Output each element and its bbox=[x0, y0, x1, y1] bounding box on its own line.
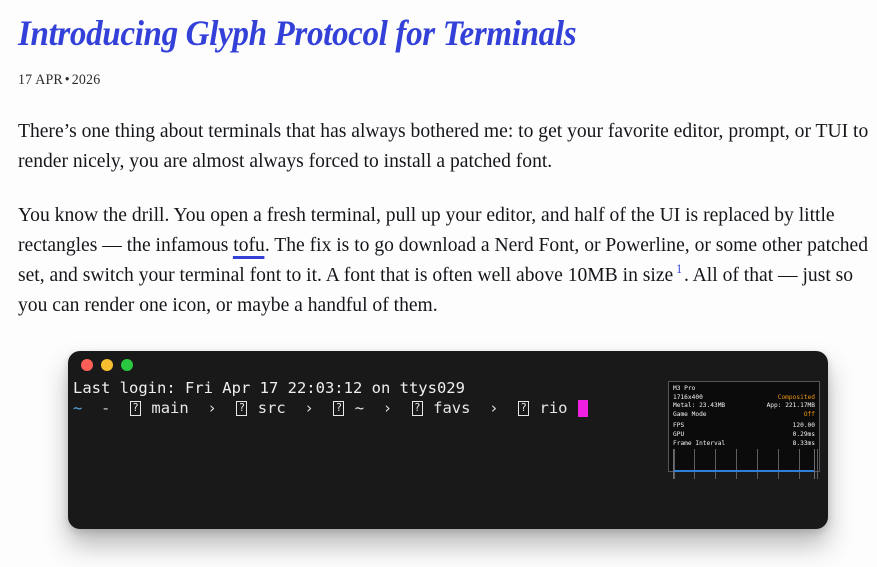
prompt-home: ~ bbox=[73, 399, 82, 417]
hud-graph-gridline bbox=[778, 449, 779, 479]
hud-graph-gridline bbox=[736, 449, 737, 479]
prompt-segment-src: src bbox=[258, 399, 286, 417]
prompt-segment-favs: favs bbox=[433, 399, 470, 417]
metal-performance-hud: M3 Pro 1716x400 Composited Metal: 23.43M… bbox=[668, 381, 820, 472]
hud-graph-gridline bbox=[817, 449, 818, 479]
hud-composited-status: Composited bbox=[778, 394, 815, 403]
hud-row-resolution: 1716x400 Composited bbox=[673, 394, 815, 403]
post-meta: 17 APR•2026 bbox=[18, 72, 800, 89]
terminal-titlebar bbox=[68, 351, 828, 379]
meta-separator: • bbox=[63, 72, 72, 88]
hud-fps-value: 120.00 bbox=[793, 422, 815, 431]
hud-graph-gridline bbox=[674, 449, 675, 479]
hud-frame-graph bbox=[673, 449, 815, 479]
tofu-glyph-icon bbox=[130, 401, 141, 416]
post-date: 17 APR bbox=[18, 72, 63, 88]
hud-metal-memory: Metal: 23.43MB bbox=[673, 402, 725, 411]
hud-gpu-value: 0.29ms bbox=[793, 431, 815, 440]
hud-app-memory: App: 221.17MB bbox=[767, 402, 815, 411]
tofu-link[interactable]: tofu bbox=[233, 234, 265, 259]
hud-row-device: M3 Pro bbox=[673, 385, 815, 394]
prompt-chevron-icon: › bbox=[207, 399, 216, 417]
terminal-cursor bbox=[578, 400, 588, 417]
paragraph-1: There’s one thing about terminals that h… bbox=[18, 116, 877, 176]
hud-game-mode-label: Game Mode bbox=[673, 411, 707, 420]
hud-row-fps: FPS 120.00 bbox=[673, 422, 815, 431]
hud-row-frame-interval: Frame Interval 8.33ms bbox=[673, 440, 815, 449]
footnote-reference-link[interactable]: 1 bbox=[676, 262, 682, 276]
zoom-button-icon[interactable] bbox=[121, 359, 133, 371]
hud-graph-gridline bbox=[757, 449, 758, 479]
prompt-dash: - bbox=[101, 399, 110, 417]
hud-fps-label: FPS bbox=[673, 422, 684, 431]
hud-resolution: 1716x400 bbox=[673, 394, 703, 403]
page-title: Introducing Glyph Protocol for Terminals bbox=[18, 14, 792, 54]
hud-device-name: M3 Pro bbox=[673, 385, 695, 394]
hud-graph-gridline bbox=[694, 449, 695, 479]
close-button-icon[interactable] bbox=[81, 359, 93, 371]
hud-row-game-mode: Game Mode Off bbox=[673, 411, 815, 420]
paragraph-2: You know the drill. You open a fresh ter… bbox=[18, 200, 877, 321]
hud-gpu-label: GPU bbox=[673, 431, 684, 440]
prompt-segment-tilde: ~ bbox=[355, 399, 364, 417]
tofu-glyph-icon bbox=[333, 401, 344, 416]
minimize-button-icon[interactable] bbox=[101, 359, 113, 371]
prompt-segment-rio: rio bbox=[540, 399, 568, 417]
post-body: There’s one thing about terminals that h… bbox=[18, 116, 859, 321]
hud-game-mode-value: Off bbox=[804, 411, 815, 420]
hud-row-gpu: GPU 0.29ms bbox=[673, 431, 815, 440]
prompt-segment-main: main bbox=[151, 399, 188, 417]
tofu-glyph-icon bbox=[412, 401, 423, 416]
footnote-reference[interactable]: 1 bbox=[673, 262, 684, 276]
hud-graph-gridline bbox=[799, 449, 800, 479]
tofu-glyph-icon bbox=[518, 401, 529, 416]
hud-frame-interval-value: 8.33ms bbox=[793, 440, 815, 449]
post-year: 2026 bbox=[72, 72, 101, 88]
article: Introducing Glyph Protocol for Terminals… bbox=[0, 0, 877, 320]
hud-graph-gridline bbox=[715, 449, 716, 479]
hud-graph-trace-line bbox=[674, 470, 814, 472]
prompt-chevron-icon: › bbox=[383, 399, 392, 417]
prompt-chevron-icon: › bbox=[304, 399, 313, 417]
hud-frame-interval-label: Frame Interval bbox=[673, 440, 725, 449]
hud-row-memory: Metal: 23.43MB App: 221.17MB bbox=[673, 402, 815, 411]
tofu-glyph-icon bbox=[236, 401, 247, 416]
prompt-chevron-icon: › bbox=[489, 399, 498, 417]
terminal-screenshot: Last login: Fri Apr 17 22:03:12 on ttys0… bbox=[68, 351, 828, 529]
terminal-window: Last login: Fri Apr 17 22:03:12 on ttys0… bbox=[68, 351, 828, 529]
